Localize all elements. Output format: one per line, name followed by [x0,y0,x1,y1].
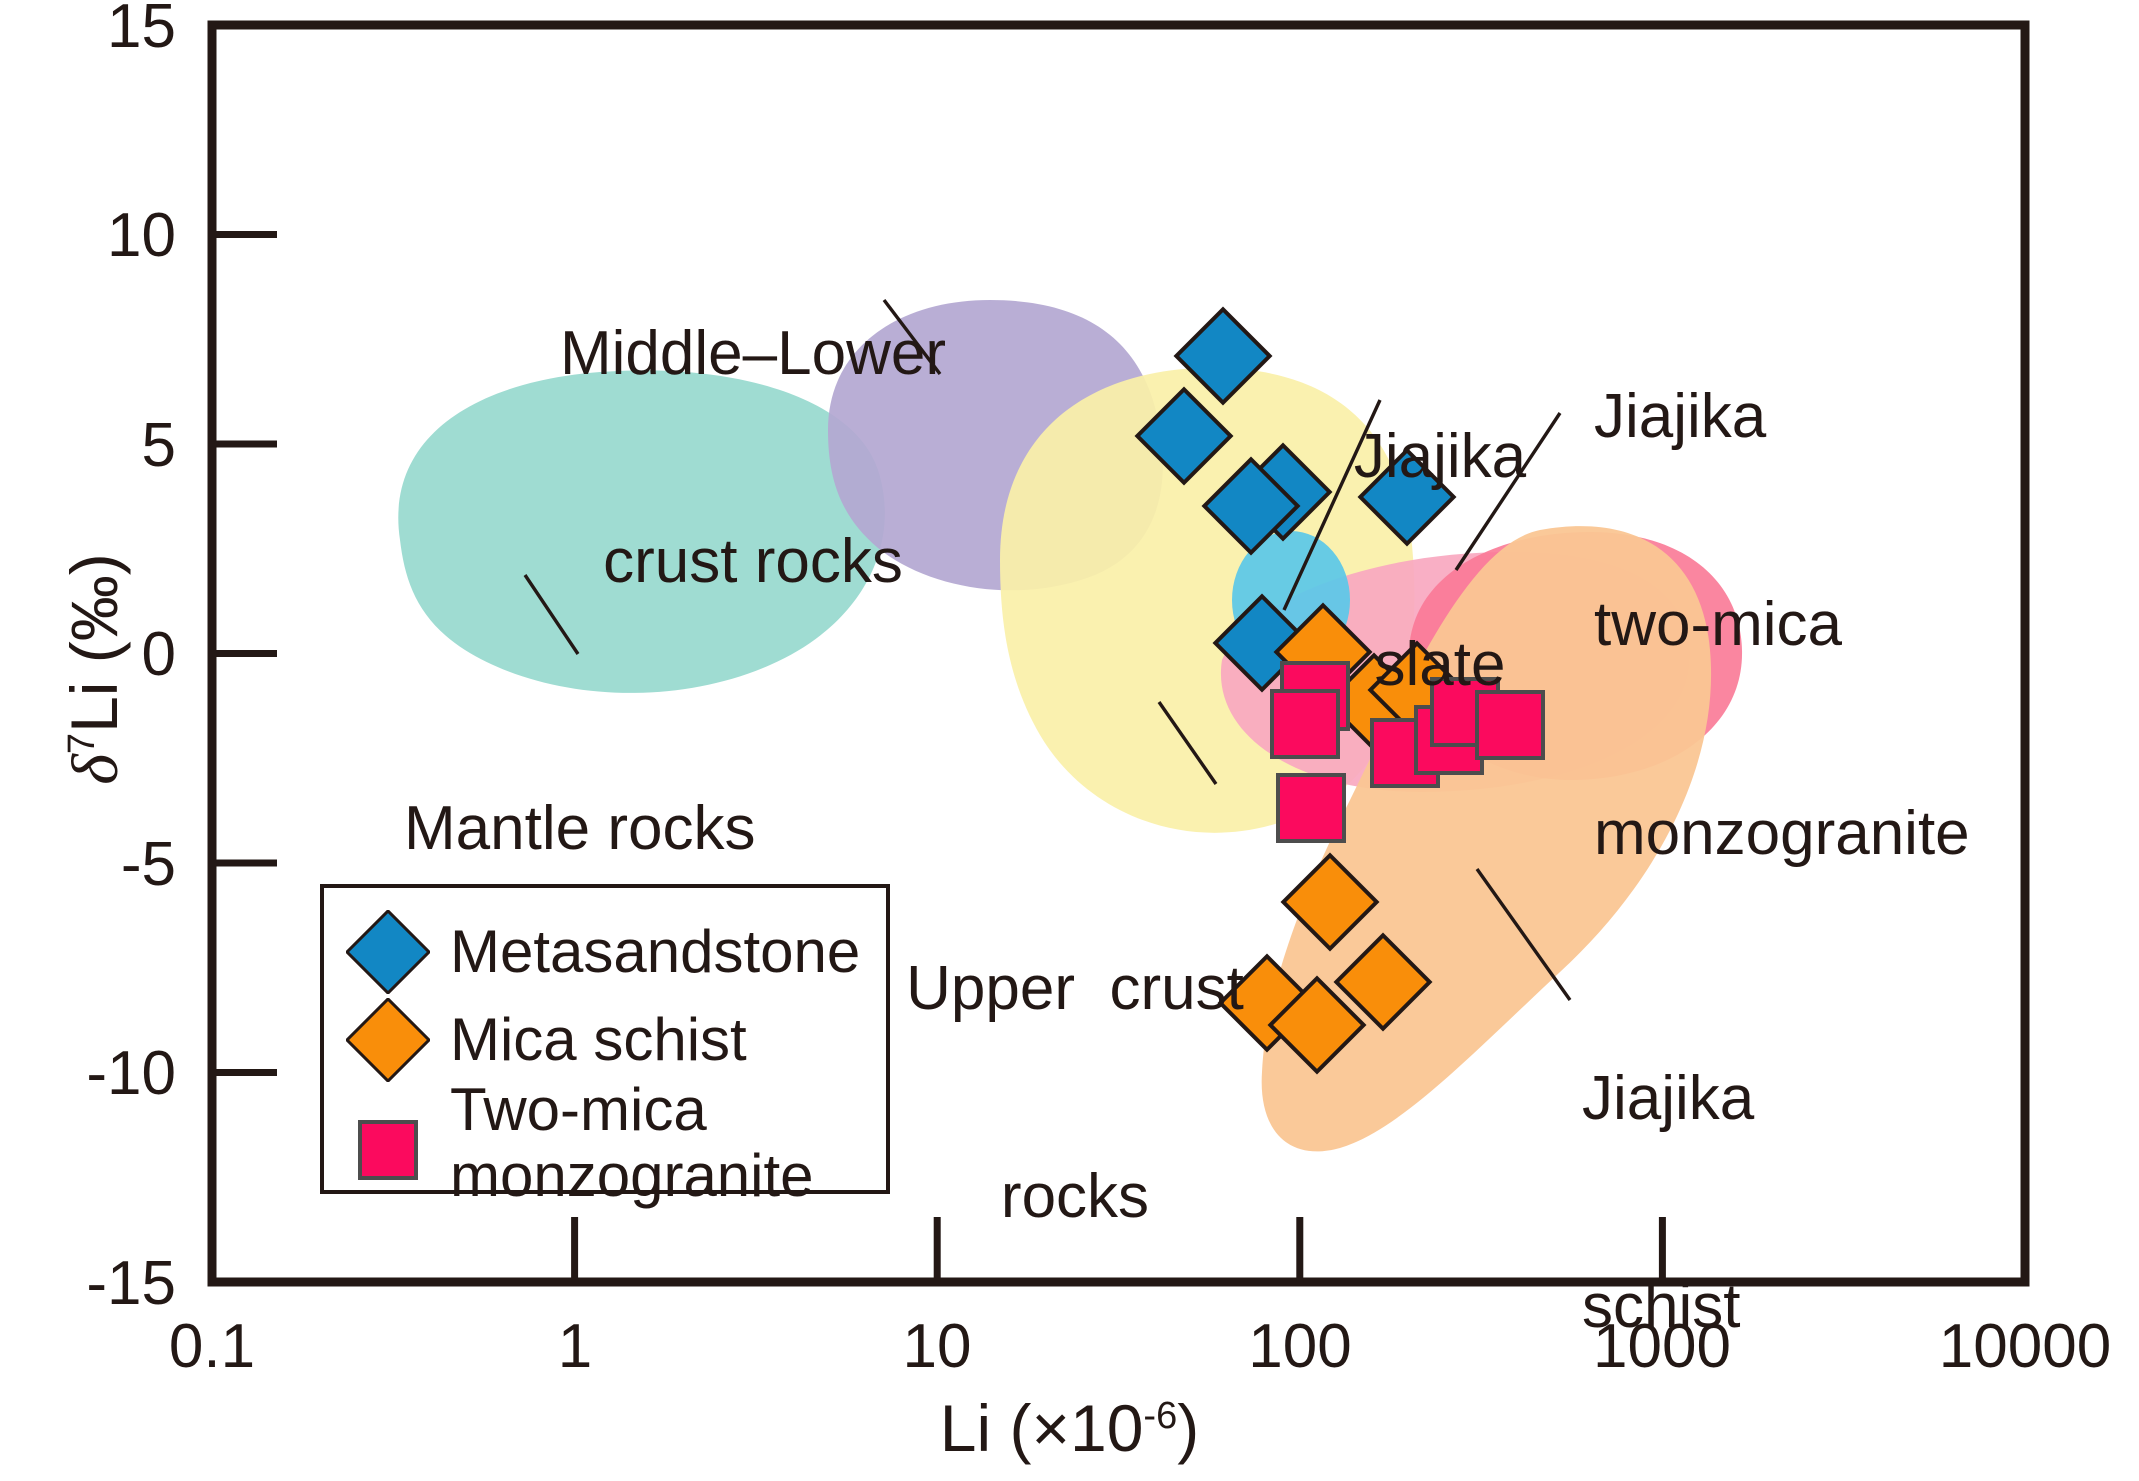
legend-label-two-mica-monzogranite-line2: monzogranite [450,1142,814,1209]
annotation-line-2: rocks [900,1162,1250,1231]
annotation-line-2: schist [1582,1272,1754,1341]
x-axis-title-main: Li (×10 [940,1391,1144,1465]
annotation-jiajika-schist: Jiajika schist [1582,925,1754,1481]
y-tick-label-10: 10 [56,201,176,270]
annotation-jiajika-two-mica-monzogranite: Jiajika two-mica monzogranite [1594,243,1970,1007]
annotation-line-2: slate [1290,630,1590,699]
annotation-line-1: Middle–Lower [560,319,946,388]
legend-label-metasandstone: Metasandstone [450,918,860,985]
legend-item-metasandstone[interactable]: Metasandstone [346,904,866,996]
annotation-line-1: Jiajika [1594,382,1970,451]
y-axis-title: δ7Li (‰) [56,319,134,1019]
annotation-middle-lower-crust-rocks: Middle–Lower crust rocks [560,180,946,736]
x-axis-title-exponent: -6 [1143,1395,1177,1437]
legend-item-two-mica-monzogranite[interactable]: Two-mica monzogranite [346,1080,866,1190]
annotation-jiajika-slate: Jiajika slate [1290,283,1590,839]
legend-label-mica-schist: Mica schist [450,1006,747,1073]
annotation-line-1: Upper crust [900,954,1250,1023]
annotation-line-1: Jiajika [1290,422,1590,491]
metasandstone-diamond-icon [346,910,430,994]
legend: Metasandstone Mica schist Two-mica monzo… [320,884,890,1194]
annotation-line-3: monzogranite [1594,799,1970,868]
legend-label-two-mica-monzogranite-line1: Two-mica [450,1076,707,1143]
two-mica-monzogranite-square-icon [346,1108,430,1192]
x-tick-label-1: 1 [475,1312,675,1381]
y-tick-label-15: 15 [56,0,176,61]
x-axis-title: Li (×10-6) [0,1392,2139,1466]
y-axis-ticks [212,235,277,1073]
annotation-line-1: Jiajika [1582,1064,1754,1133]
annotation-line-2: two-mica [1594,590,1970,659]
annotation-line-2: crust rocks [560,527,946,596]
chart-root: 15 10 5 0 -5 -10 -15 0.1 1 10 100 1000 1… [0,0,2139,1480]
y-tick-label--15: -15 [36,1249,176,1318]
y-tick-label--10: -10 [36,1039,176,1108]
y-axis-title-delta: δ [59,754,132,785]
y-axis-title-rest: Li (‰) [57,553,131,733]
legend-item-mica-schist[interactable]: Mica schist [346,992,866,1084]
mica-schist-diamond-icon [346,998,430,1082]
annotation-upper-crust-rocks: Upper crust rocks [900,815,1250,1371]
x-tick-label-0.1: 0.1 [112,1312,312,1381]
y-axis-title-exponent: 7 [61,733,103,754]
x-tick-label-10000: 10000 [1925,1312,2125,1381]
annotation-line-1: Mantle rocks [404,794,755,863]
x-axis-title-close: ) [1177,1391,1199,1465]
